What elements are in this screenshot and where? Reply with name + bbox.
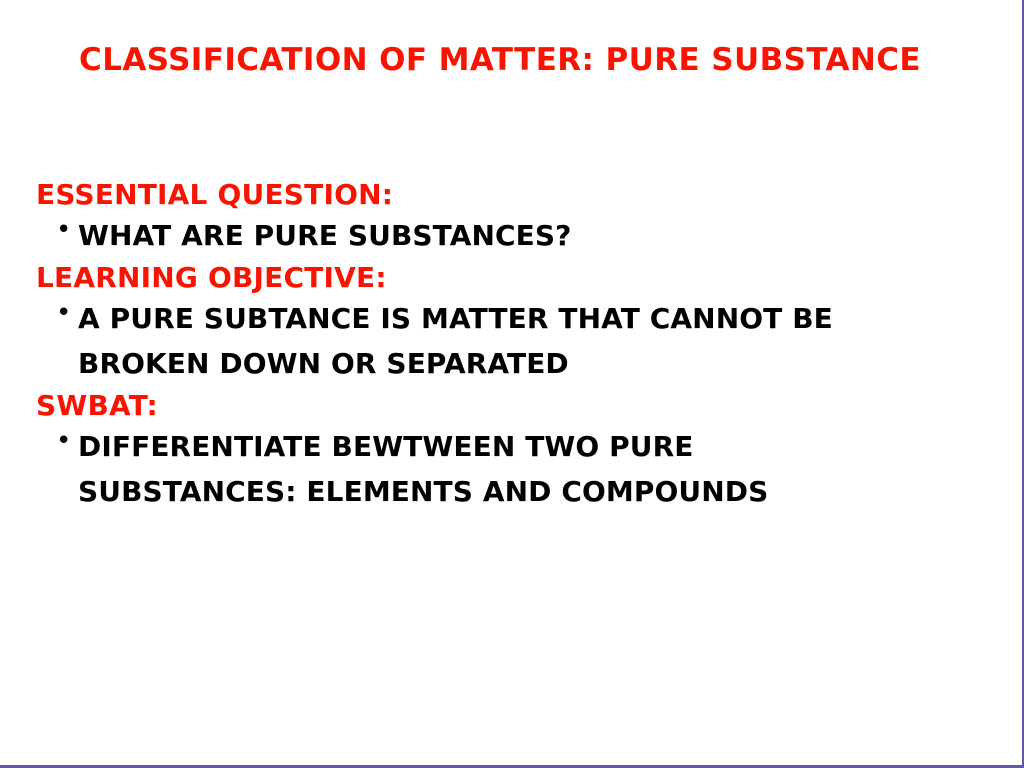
bullet-line: A PURE SUBTANCE IS MATTER THAT CANNOT BE — [78, 296, 996, 341]
section-heading-learning-objective: LEARNING OBJECTIVE: — [36, 259, 996, 296]
list-item: • DIFFERENTIATE BEWTWEEN TWO PURE SUBSTA… — [36, 424, 996, 515]
bullet-line: WHAT ARE PURE SUBSTANCES? — [78, 213, 996, 258]
bullet-line: BROKEN DOWN OR SEPARATED — [78, 341, 996, 386]
section-heading-swbat: SWBAT: — [36, 387, 996, 424]
bullet-dot-icon: • — [56, 424, 78, 459]
section-heading-essential-question: ESSENTIAL QUESTION: — [36, 176, 996, 213]
section-learning-objective: LEARNING OBJECTIVE: • A PURE SUBTANCE IS… — [36, 259, 996, 387]
slide-canvas: CLASSIFICATION OF MATTER: PURE SUBSTANCE… — [0, 0, 1024, 768]
bullet-dot-icon: • — [56, 296, 78, 331]
slide-body: ESSENTIAL QUESTION: • WHAT ARE PURE SUBS… — [36, 176, 996, 515]
bullet-line: DIFFERENTIATE BEWTWEEN TWO PURE — [78, 424, 996, 469]
list-item: • A PURE SUBTANCE IS MATTER THAT CANNOT … — [36, 296, 996, 387]
bullet-text: A PURE SUBTANCE IS MATTER THAT CANNOT BE… — [78, 296, 996, 387]
bullet-dot-icon: • — [56, 213, 78, 248]
bullet-line: SUBSTANCES: ELEMENTS AND COMPOUNDS — [78, 469, 996, 514]
section-swbat: SWBAT: • DIFFERENTIATE BEWTWEEN TWO PURE… — [36, 387, 996, 515]
bottom-accent-rule — [0, 765, 1022, 767]
bullet-text: WHAT ARE PURE SUBSTANCES? — [78, 213, 996, 258]
slide-title: CLASSIFICATION OF MATTER: PURE SUBSTANCE — [0, 44, 1000, 77]
list-item: • WHAT ARE PURE SUBSTANCES? — [36, 213, 996, 258]
section-essential-question: ESSENTIAL QUESTION: • WHAT ARE PURE SUBS… — [36, 176, 996, 259]
bullet-text: DIFFERENTIATE BEWTWEEN TWO PURE SUBSTANC… — [78, 424, 996, 515]
